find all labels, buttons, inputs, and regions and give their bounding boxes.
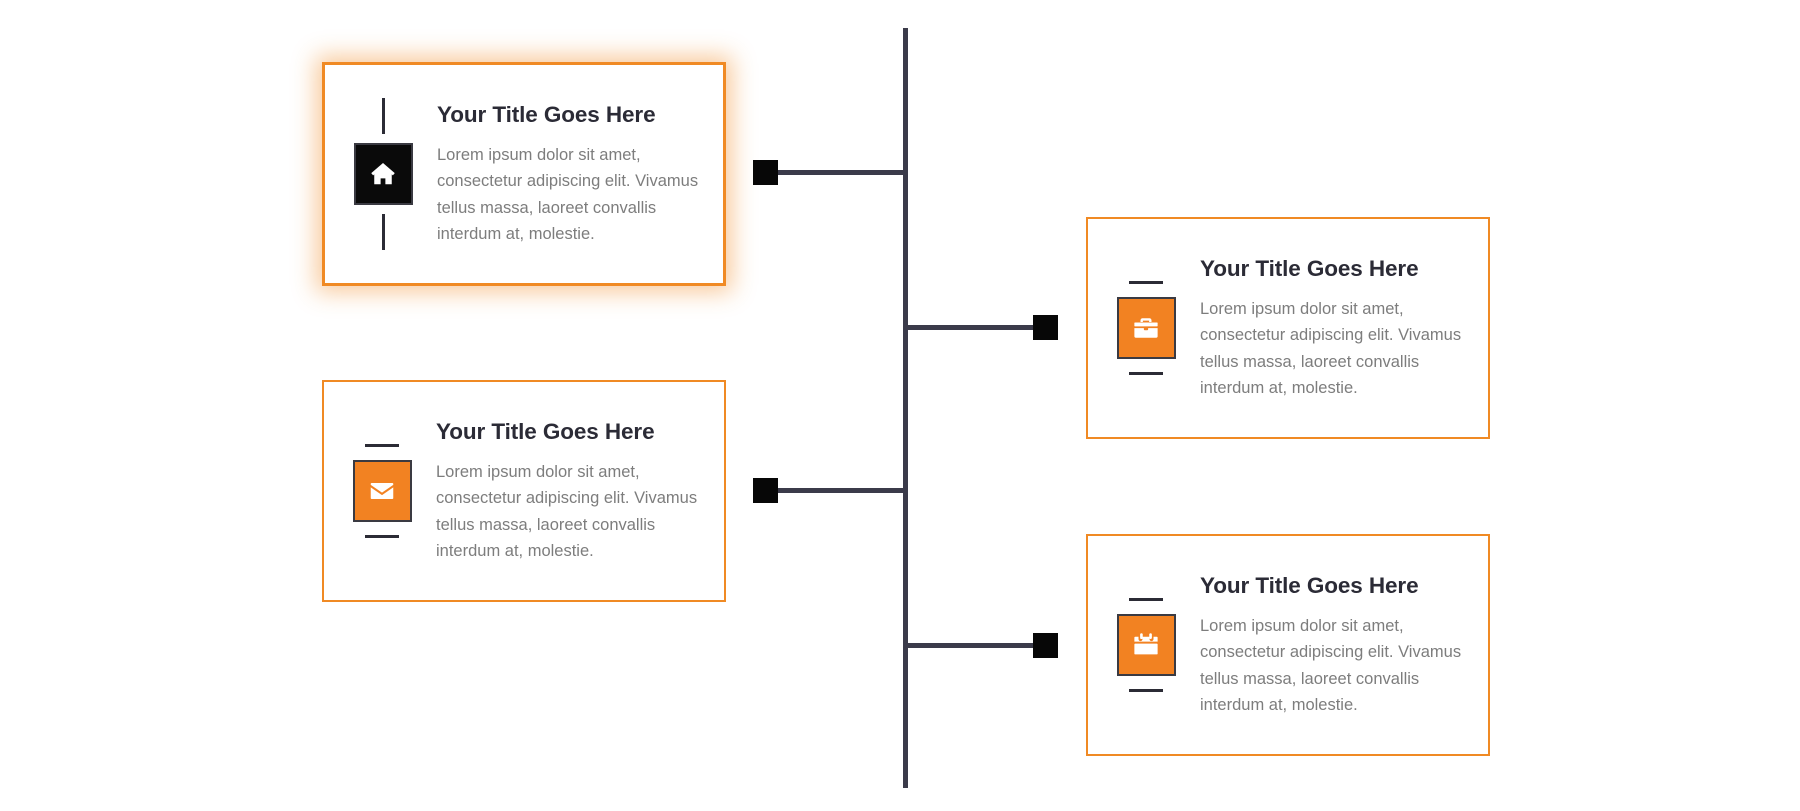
timeline-card-1[interactable]: Your Title Goes Here Lorem ipsum dolor s… xyxy=(322,62,726,286)
card-2-icon-box xyxy=(1117,297,1176,359)
timeline-node-2[interactable] xyxy=(1033,315,1058,340)
calendar-icon xyxy=(1131,630,1161,660)
card-4-icon-column xyxy=(1114,585,1178,705)
timeline-node-4[interactable] xyxy=(1033,633,1058,658)
briefcase-icon xyxy=(1131,313,1161,343)
card-2-icon-column xyxy=(1114,268,1178,388)
timeline-card-2[interactable]: Your Title Goes Here Lorem ipsum dolor s… xyxy=(1086,217,1490,439)
envelope-icon xyxy=(367,476,397,506)
dash-top-icon xyxy=(1129,281,1163,284)
card-1-title: Your Title Goes Here xyxy=(437,101,701,129)
card-3-title: Your Title Goes Here xyxy=(436,418,702,446)
connector-line-3 xyxy=(765,488,907,493)
dash-bottom-icon xyxy=(1129,689,1163,692)
dash-bottom-icon xyxy=(365,535,399,538)
card-4-icon-box xyxy=(1117,614,1176,676)
card-4-title: Your Title Goes Here xyxy=(1200,572,1466,600)
card-1-icon-column xyxy=(351,89,415,259)
timeline-node-3[interactable] xyxy=(753,478,778,503)
timeline-node-1[interactable] xyxy=(753,160,778,185)
timeline-spine xyxy=(903,28,908,788)
timeline-card-4[interactable]: Your Title Goes Here Lorem ipsum dolor s… xyxy=(1086,534,1490,756)
timeline-infographic: Your Title Goes Here Lorem ipsum dolor s… xyxy=(0,0,1800,811)
card-1-icon-box xyxy=(354,143,413,205)
dash-top-icon xyxy=(382,98,385,134)
card-3-icon-box xyxy=(353,460,412,522)
dash-top-icon xyxy=(1129,598,1163,601)
card-1-body: Lorem ipsum dolor sit amet, consectetur … xyxy=(437,142,701,248)
card-2-title: Your Title Goes Here xyxy=(1200,255,1466,283)
card-2-body: Lorem ipsum dolor sit amet, consectetur … xyxy=(1200,296,1466,402)
card-3-body: Lorem ipsum dolor sit amet, consectetur … xyxy=(436,459,702,565)
dash-bottom-icon xyxy=(1129,372,1163,375)
card-1-text-column: Your Title Goes Here Lorem ipsum dolor s… xyxy=(415,101,705,248)
dash-bottom-icon xyxy=(382,214,385,250)
connector-line-1 xyxy=(765,170,907,175)
card-4-text-column: Your Title Goes Here Lorem ipsum dolor s… xyxy=(1178,572,1470,719)
card-4-body: Lorem ipsum dolor sit amet, consectetur … xyxy=(1200,613,1466,719)
connector-line-2 xyxy=(903,325,1045,330)
dash-top-icon xyxy=(365,444,399,447)
timeline-card-3[interactable]: Your Title Goes Here Lorem ipsum dolor s… xyxy=(322,380,726,602)
connector-line-4 xyxy=(903,643,1045,648)
card-3-text-column: Your Title Goes Here Lorem ipsum dolor s… xyxy=(414,418,706,565)
card-2-text-column: Your Title Goes Here Lorem ipsum dolor s… xyxy=(1178,255,1470,402)
home-icon xyxy=(368,159,398,189)
card-3-icon-column xyxy=(350,431,414,551)
